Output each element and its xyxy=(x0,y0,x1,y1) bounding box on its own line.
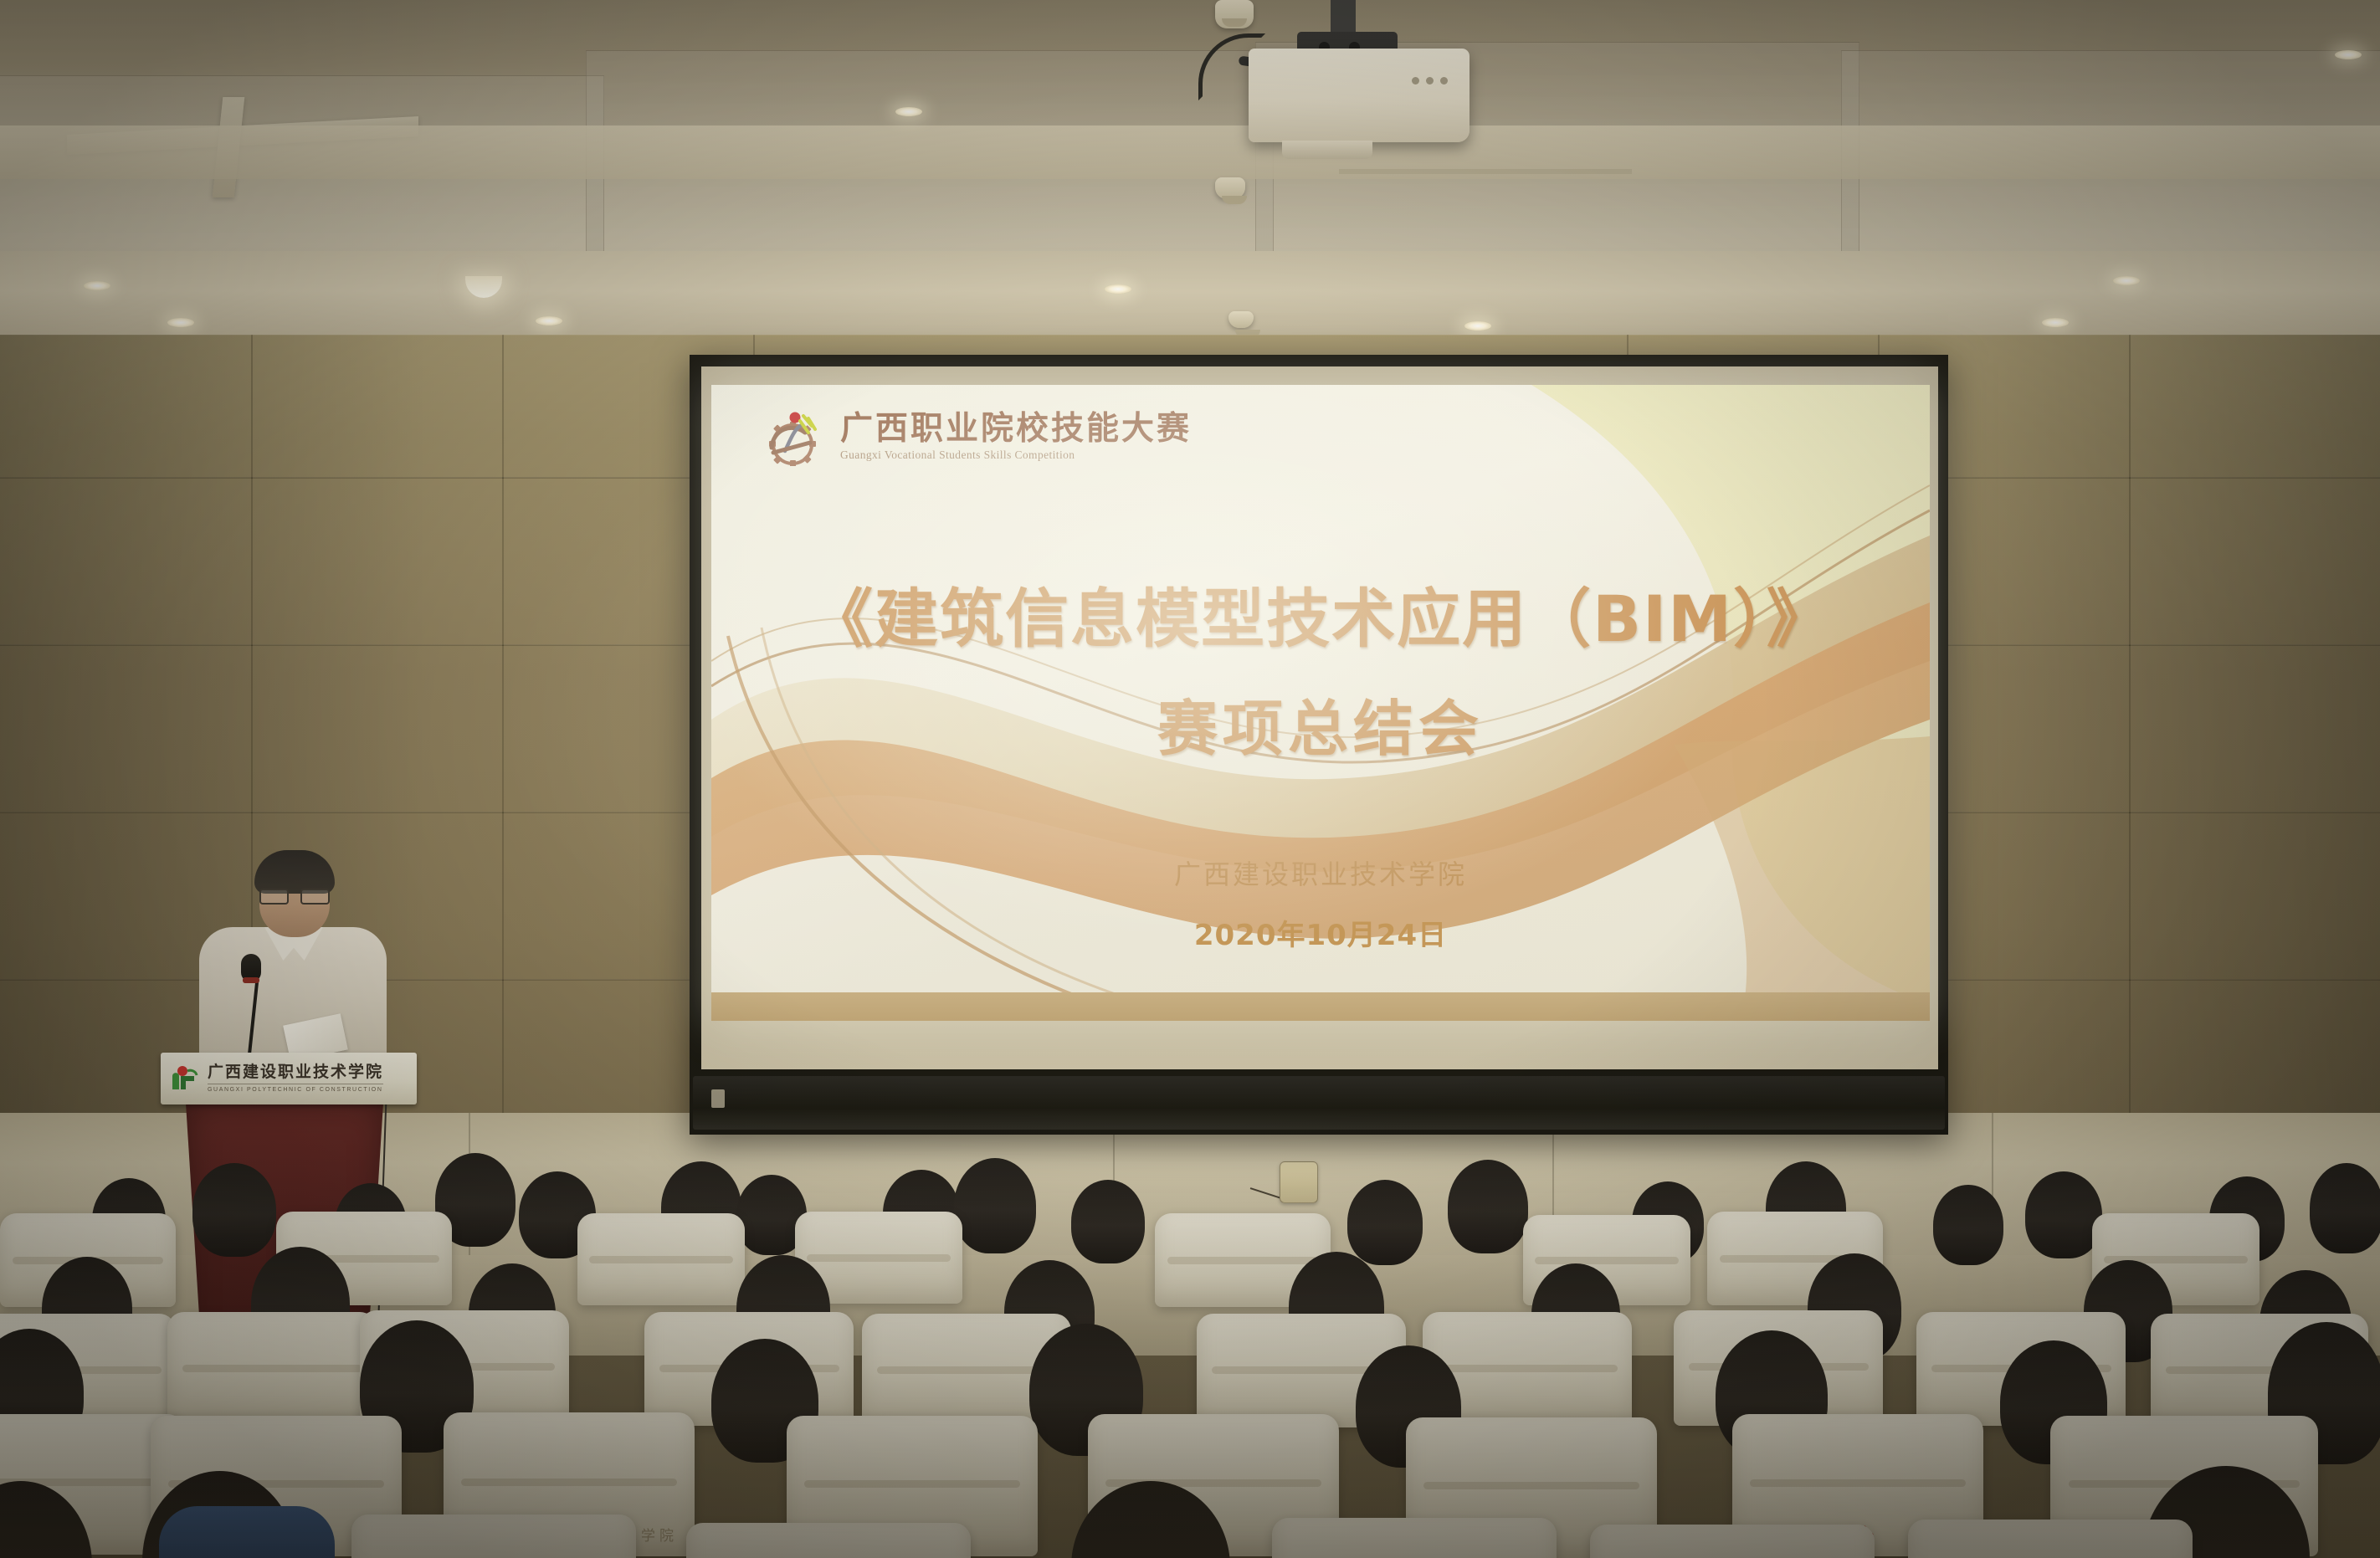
audience-head xyxy=(954,1158,1036,1253)
slide-footer-band xyxy=(711,992,1930,1021)
audience-blue-shirt xyxy=(159,1506,335,1558)
downlight xyxy=(1464,321,1491,331)
school-flower-logo-icon xyxy=(169,1064,201,1093)
audience-chair xyxy=(1908,1520,2193,1558)
slide-title: 《建筑信息模型技术应用（BIM）》 xyxy=(711,567,1930,659)
audience-head xyxy=(1448,1160,1528,1253)
ceiling-band xyxy=(0,126,2380,179)
audience-head xyxy=(2310,1163,2380,1253)
audience-chair xyxy=(686,1523,971,1558)
wall-panel xyxy=(0,477,253,646)
audience-head xyxy=(1347,1180,1423,1265)
logo-chinese-text: 广西职业院校技能大赛 xyxy=(840,413,1192,445)
wall-panel xyxy=(2129,812,2380,981)
audience-chair xyxy=(1590,1525,1875,1558)
projection-screen: 广西职业院校技能大赛 Guangxi Vocational Students S… xyxy=(690,355,1948,1135)
downlight xyxy=(2335,50,2362,59)
competition-logo: 广西职业院校技能大赛 Guangxi Vocational Students S… xyxy=(757,403,1208,470)
downlight xyxy=(536,316,562,325)
wall-panel xyxy=(2129,335,2380,479)
gear-athlete-logo-icon xyxy=(757,407,828,466)
downlight xyxy=(2113,276,2140,285)
podium-sign-chinese: 广西建设职业技术学院 xyxy=(208,1064,383,1080)
conference-hall-photo: 广西职业院校技能大赛 Guangxi Vocational Students S… xyxy=(0,0,2380,1558)
ceiling xyxy=(0,0,2380,351)
microphone-band xyxy=(243,977,259,983)
podium-sign-english: GUANGXI POLYTECHNIC OF CONSTRUCTION xyxy=(208,1084,383,1093)
speaker-hair xyxy=(254,850,335,894)
audience-head xyxy=(2025,1171,2102,1258)
smoke-detector-icon xyxy=(1215,177,1245,199)
audience-head xyxy=(192,1163,276,1257)
audience-chair xyxy=(1272,1518,1557,1558)
smoke-detector-icon xyxy=(1215,0,1254,28)
audience-chair xyxy=(577,1213,745,1305)
slide-date: 2020年10月24日 xyxy=(711,912,1930,953)
wall-panel xyxy=(251,477,504,646)
audience-head xyxy=(1933,1185,2003,1265)
air-vent-icon xyxy=(1339,174,1632,192)
wall-panel xyxy=(2129,477,2380,646)
slide-organization: 广西建设职业技术学院 xyxy=(711,853,1930,892)
audience-chair xyxy=(167,1312,377,1426)
logo-english-text: Guangxi Vocational Students Skills Compe… xyxy=(840,449,1192,461)
wall-panel xyxy=(2129,644,2380,813)
audience-seating: 广西建设职业技术学院 xyxy=(0,1146,2380,1558)
speaker-person xyxy=(199,855,387,1064)
audience-chair xyxy=(351,1514,636,1558)
wall-panel xyxy=(0,644,253,813)
projector-vent xyxy=(1274,70,1391,119)
glasses-icon xyxy=(259,889,330,901)
projected-slide: 广西职业院校技能大赛 Guangxi Vocational Students S… xyxy=(711,385,1930,1021)
slide-subtitle: 赛项总结会 xyxy=(711,679,1930,767)
downlight xyxy=(1105,284,1131,294)
wall-panel xyxy=(251,335,504,479)
podium-sign: 广西建设职业技术学院 GUANGXI POLYTECHNIC OF CONSTR… xyxy=(161,1053,417,1104)
wall-panel xyxy=(251,644,504,813)
downlight xyxy=(2042,318,2069,327)
projector-buttons[interactable] xyxy=(1412,77,1454,91)
screen-weight-bar xyxy=(693,1076,1945,1130)
projector-body xyxy=(1249,49,1470,142)
downlight xyxy=(895,107,922,116)
audience-head xyxy=(1071,1180,1145,1263)
projector-lens xyxy=(1282,141,1372,159)
air-vent-trim xyxy=(1339,169,1632,174)
wall-panel xyxy=(0,335,253,479)
downlight xyxy=(167,318,194,327)
downlight xyxy=(84,281,110,290)
